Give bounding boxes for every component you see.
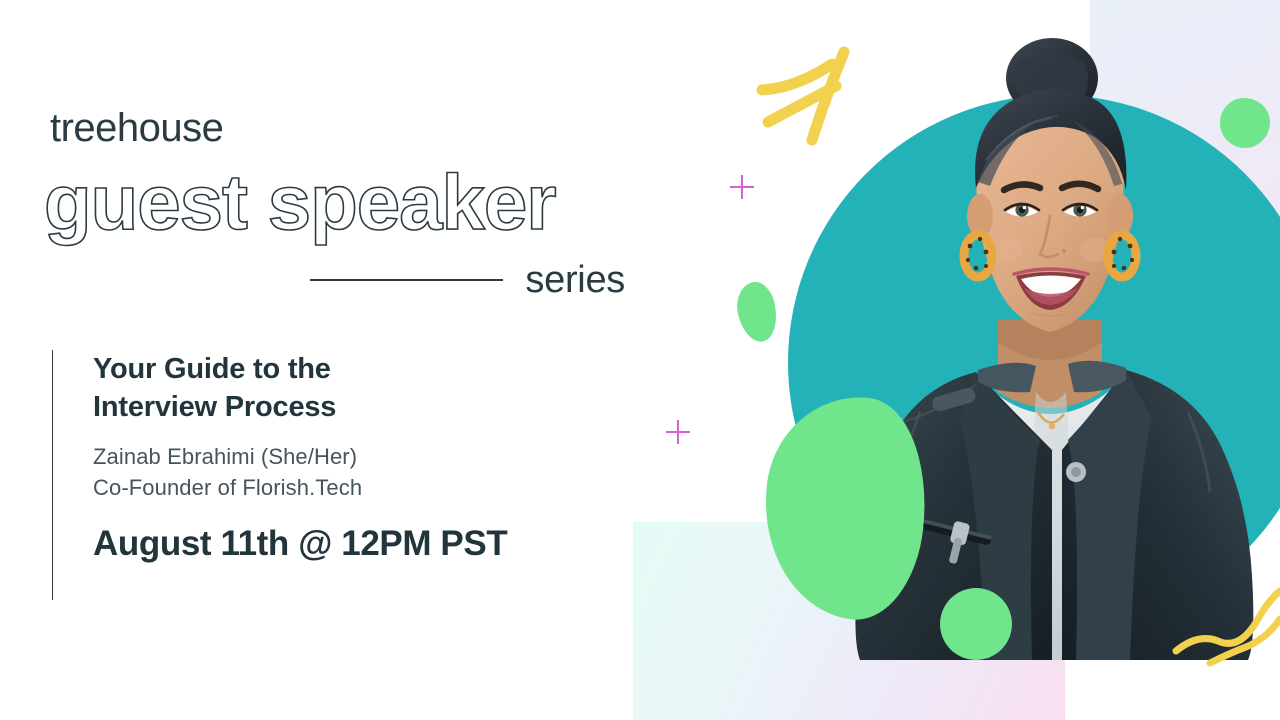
green-blob-icon (732, 279, 782, 346)
magenta-plus-icon (730, 175, 754, 199)
event-info-block: Your Guide to the Interview Process Zain… (52, 350, 507, 600)
yellow-wavy-lines-icon (1168, 575, 1280, 675)
green-circle-bottom-icon (940, 588, 1012, 660)
speaker-role: Co-Founder of Florish.Tech (93, 472, 507, 504)
series-label: series (525, 261, 625, 299)
page-title: guest speaker (44, 163, 556, 241)
series-row: series (310, 258, 625, 302)
talk-title: Your Guide to the Interview Process (93, 350, 507, 427)
treehouse-wordmark: treehouse (50, 108, 223, 148)
magenta-plus-icon (666, 420, 690, 444)
event-datetime: August 11th @ 12PM PST (93, 526, 507, 561)
speaker-name: Zainab Ebrahimi (She/Her) (93, 441, 507, 473)
series-divider (310, 279, 503, 281)
slide-canvas: treehouse guest speaker series Your Guid… (0, 0, 1280, 720)
yellow-sparkle-burst-icon (740, 30, 900, 190)
